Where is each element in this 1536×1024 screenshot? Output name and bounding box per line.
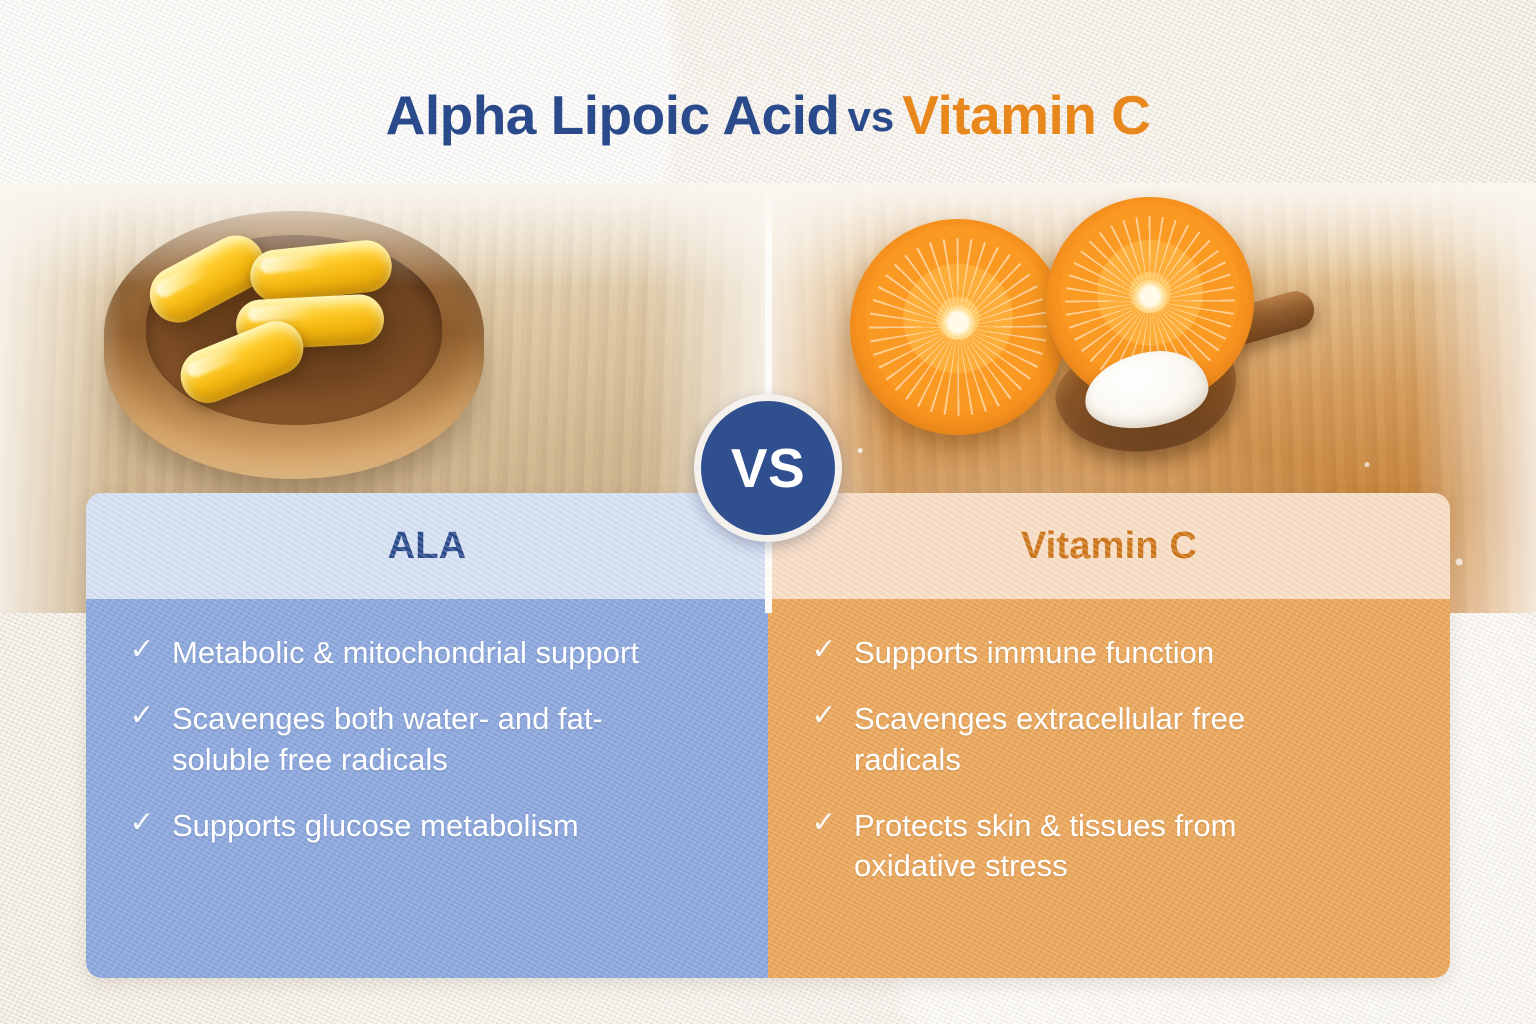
title-primary: Alpha Lipoic Acid — [386, 84, 840, 146]
column-body-vitamin-c: ✓ Supports immune function ✓ Scavenges e… — [768, 599, 1450, 978]
check-icon: ✓ — [128, 699, 156, 733]
column-title-vitamin-c: Vitamin C — [1021, 525, 1197, 568]
orange-core — [941, 305, 976, 340]
orange-core — [1133, 280, 1166, 313]
list-item-label: Metabolic & mitochondrial support — [172, 633, 639, 673]
column-title-ala: ALA — [388, 525, 467, 568]
check-icon: ✓ — [810, 699, 838, 733]
check-icon: ✓ — [128, 806, 156, 840]
check-icon: ✓ — [128, 633, 156, 667]
list-item: ✓ Supports glucose metabolism — [128, 806, 738, 846]
check-icon: ✓ — [810, 633, 838, 667]
column-ala: ALA ✓ Metabolic & mitochondrial support … — [86, 493, 768, 978]
column-header-ala: ALA — [86, 493, 768, 599]
title-highlight: Vitamin C — [902, 84, 1150, 146]
list-item: ✓ Scavenges extracellular free radicals — [810, 699, 1420, 780]
check-icon: ✓ — [810, 806, 838, 840]
column-vitamin-c: Vitamin C ✓ Supports immune function ✓ S… — [768, 493, 1450, 978]
list-item: ✓ Scavenges both water- and fat-soluble … — [128, 699, 738, 780]
page-title: Alpha Lipoic AcidvsVitamin C — [0, 88, 1536, 143]
column-body-ala: ✓ Metabolic & mitochondrial support ✓ Sc… — [86, 599, 768, 978]
column-header-vitamin-c: Vitamin C — [768, 493, 1450, 599]
list-item-label: Supports immune function — [854, 633, 1214, 673]
list-item-label: Scavenges extracellular free radicals — [854, 699, 1354, 780]
vs-badge: VS — [694, 394, 842, 542]
vs-badge-label: VS — [731, 441, 805, 496]
list-item-label: Scavenges both water- and fat-soluble fr… — [172, 699, 672, 780]
orange-half — [850, 219, 1066, 435]
title-connector: vs — [840, 93, 903, 140]
list-item: ✓ Metabolic & mitochondrial support — [128, 633, 738, 673]
list-item: ✓ Supports immune function — [810, 633, 1420, 673]
list-item-label: Supports glucose metabolism — [172, 806, 579, 846]
list-item-label: Protects skin & tissues from oxidative s… — [854, 806, 1354, 887]
list-item: ✓ Protects skin & tissues from oxidative… — [810, 806, 1420, 887]
